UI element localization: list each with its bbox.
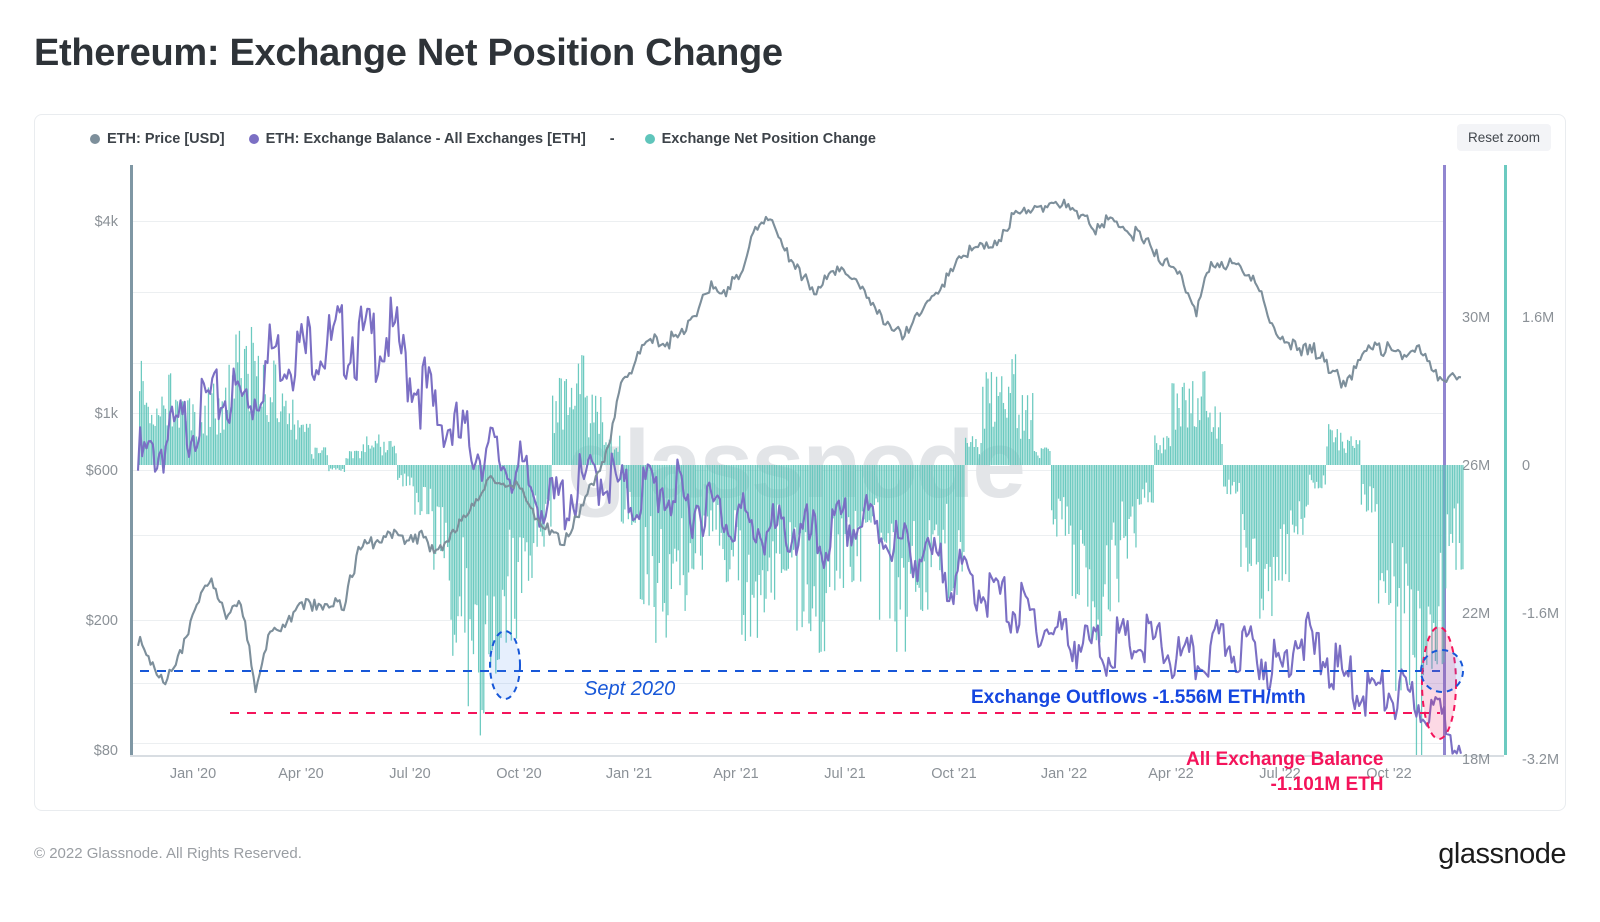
sept-2020-annotation: Sept 2020 [584,678,675,701]
chart-svg [130,165,1475,755]
footer-copyright: © 2022 Glassnode. All Rights Reserved. [34,845,302,862]
y-tick-left: $600 [86,463,118,479]
chart-legend: ETH: Price [USD] ETH: Exchange Balance -… [90,131,900,147]
x-tick: Jan '22 [1041,766,1087,782]
outflow-highlight-circle [1421,650,1463,692]
legend-item-price[interactable]: ETH: Price [USD] [90,131,225,147]
y-tick-left: $4k [95,214,118,230]
all-exchange-balance-line2: -1.101M ETH [1186,772,1383,797]
sept-2020-highlight-ellipse [490,631,520,699]
y-tick-left: $80 [94,743,118,759]
annotation-overlays [140,627,1463,739]
right-axis-spine-netposition [1504,165,1507,755]
x-tick: Apr '21 [713,766,759,782]
y-tick-left: $200 [86,613,118,629]
reset-zoom-button[interactable]: Reset zoom [1457,124,1551,151]
chart-page: Ethereum: Exchange Net Position Change E… [0,0,1600,922]
series-container [130,165,1475,755]
x-tick: Oct '21 [931,766,976,782]
y-tick-netposition: 1.6M [1522,310,1554,326]
legend-dot-icon [249,134,259,144]
legend-item-net-position-change[interactable]: Exchange Net Position Change [645,131,876,147]
exchange-outflows-annotation: Exchange Outflows -1.556M ETH/mth [971,687,1306,709]
legend-dot-icon [645,134,655,144]
legend-label-net-position-change: Exchange Net Position Change [662,131,876,147]
x-tick: Jul '21 [824,766,865,782]
y-tick-netposition: -1.6M [1522,606,1559,622]
plot-area[interactable]: glassnode $4k $1k $600 $200 $80 30M 26M … [97,165,1475,755]
all-exchange-balance-annotation: All Exchange Balance -1.101M ETH [1186,747,1383,797]
all-exchange-balance-line1: All Exchange Balance [1186,747,1383,772]
chart-card: ETH: Price [USD] ETH: Exchange Balance -… [34,114,1566,811]
page-title: Ethereum: Exchange Net Position Change [34,32,783,75]
footer-logo: glassnode [1438,838,1566,871]
x-tick: Apr '20 [278,766,324,782]
legend-dot-icon [90,134,100,144]
legend-separator: - [610,131,615,147]
y-tick-netposition: 0 [1522,458,1530,474]
x-tick: Jan '21 [606,766,652,782]
exchange-balance-line [138,298,1461,754]
y-tick-netposition: -3.2M [1522,752,1559,768]
legend-item-exchange-balance[interactable]: ETH: Exchange Balance - All Exchanges [E… [249,131,586,147]
legend-label-price: ETH: Price [USD] [107,131,225,147]
x-tick: Oct '20 [496,766,541,782]
x-tick: Jul '20 [389,766,430,782]
legend-label-exchange-balance: ETH: Exchange Balance - All Exchanges [E… [266,131,586,147]
eth-price-line [138,200,1461,692]
y-tick-left: $1k [95,406,118,422]
x-tick: Jan '20 [170,766,216,782]
